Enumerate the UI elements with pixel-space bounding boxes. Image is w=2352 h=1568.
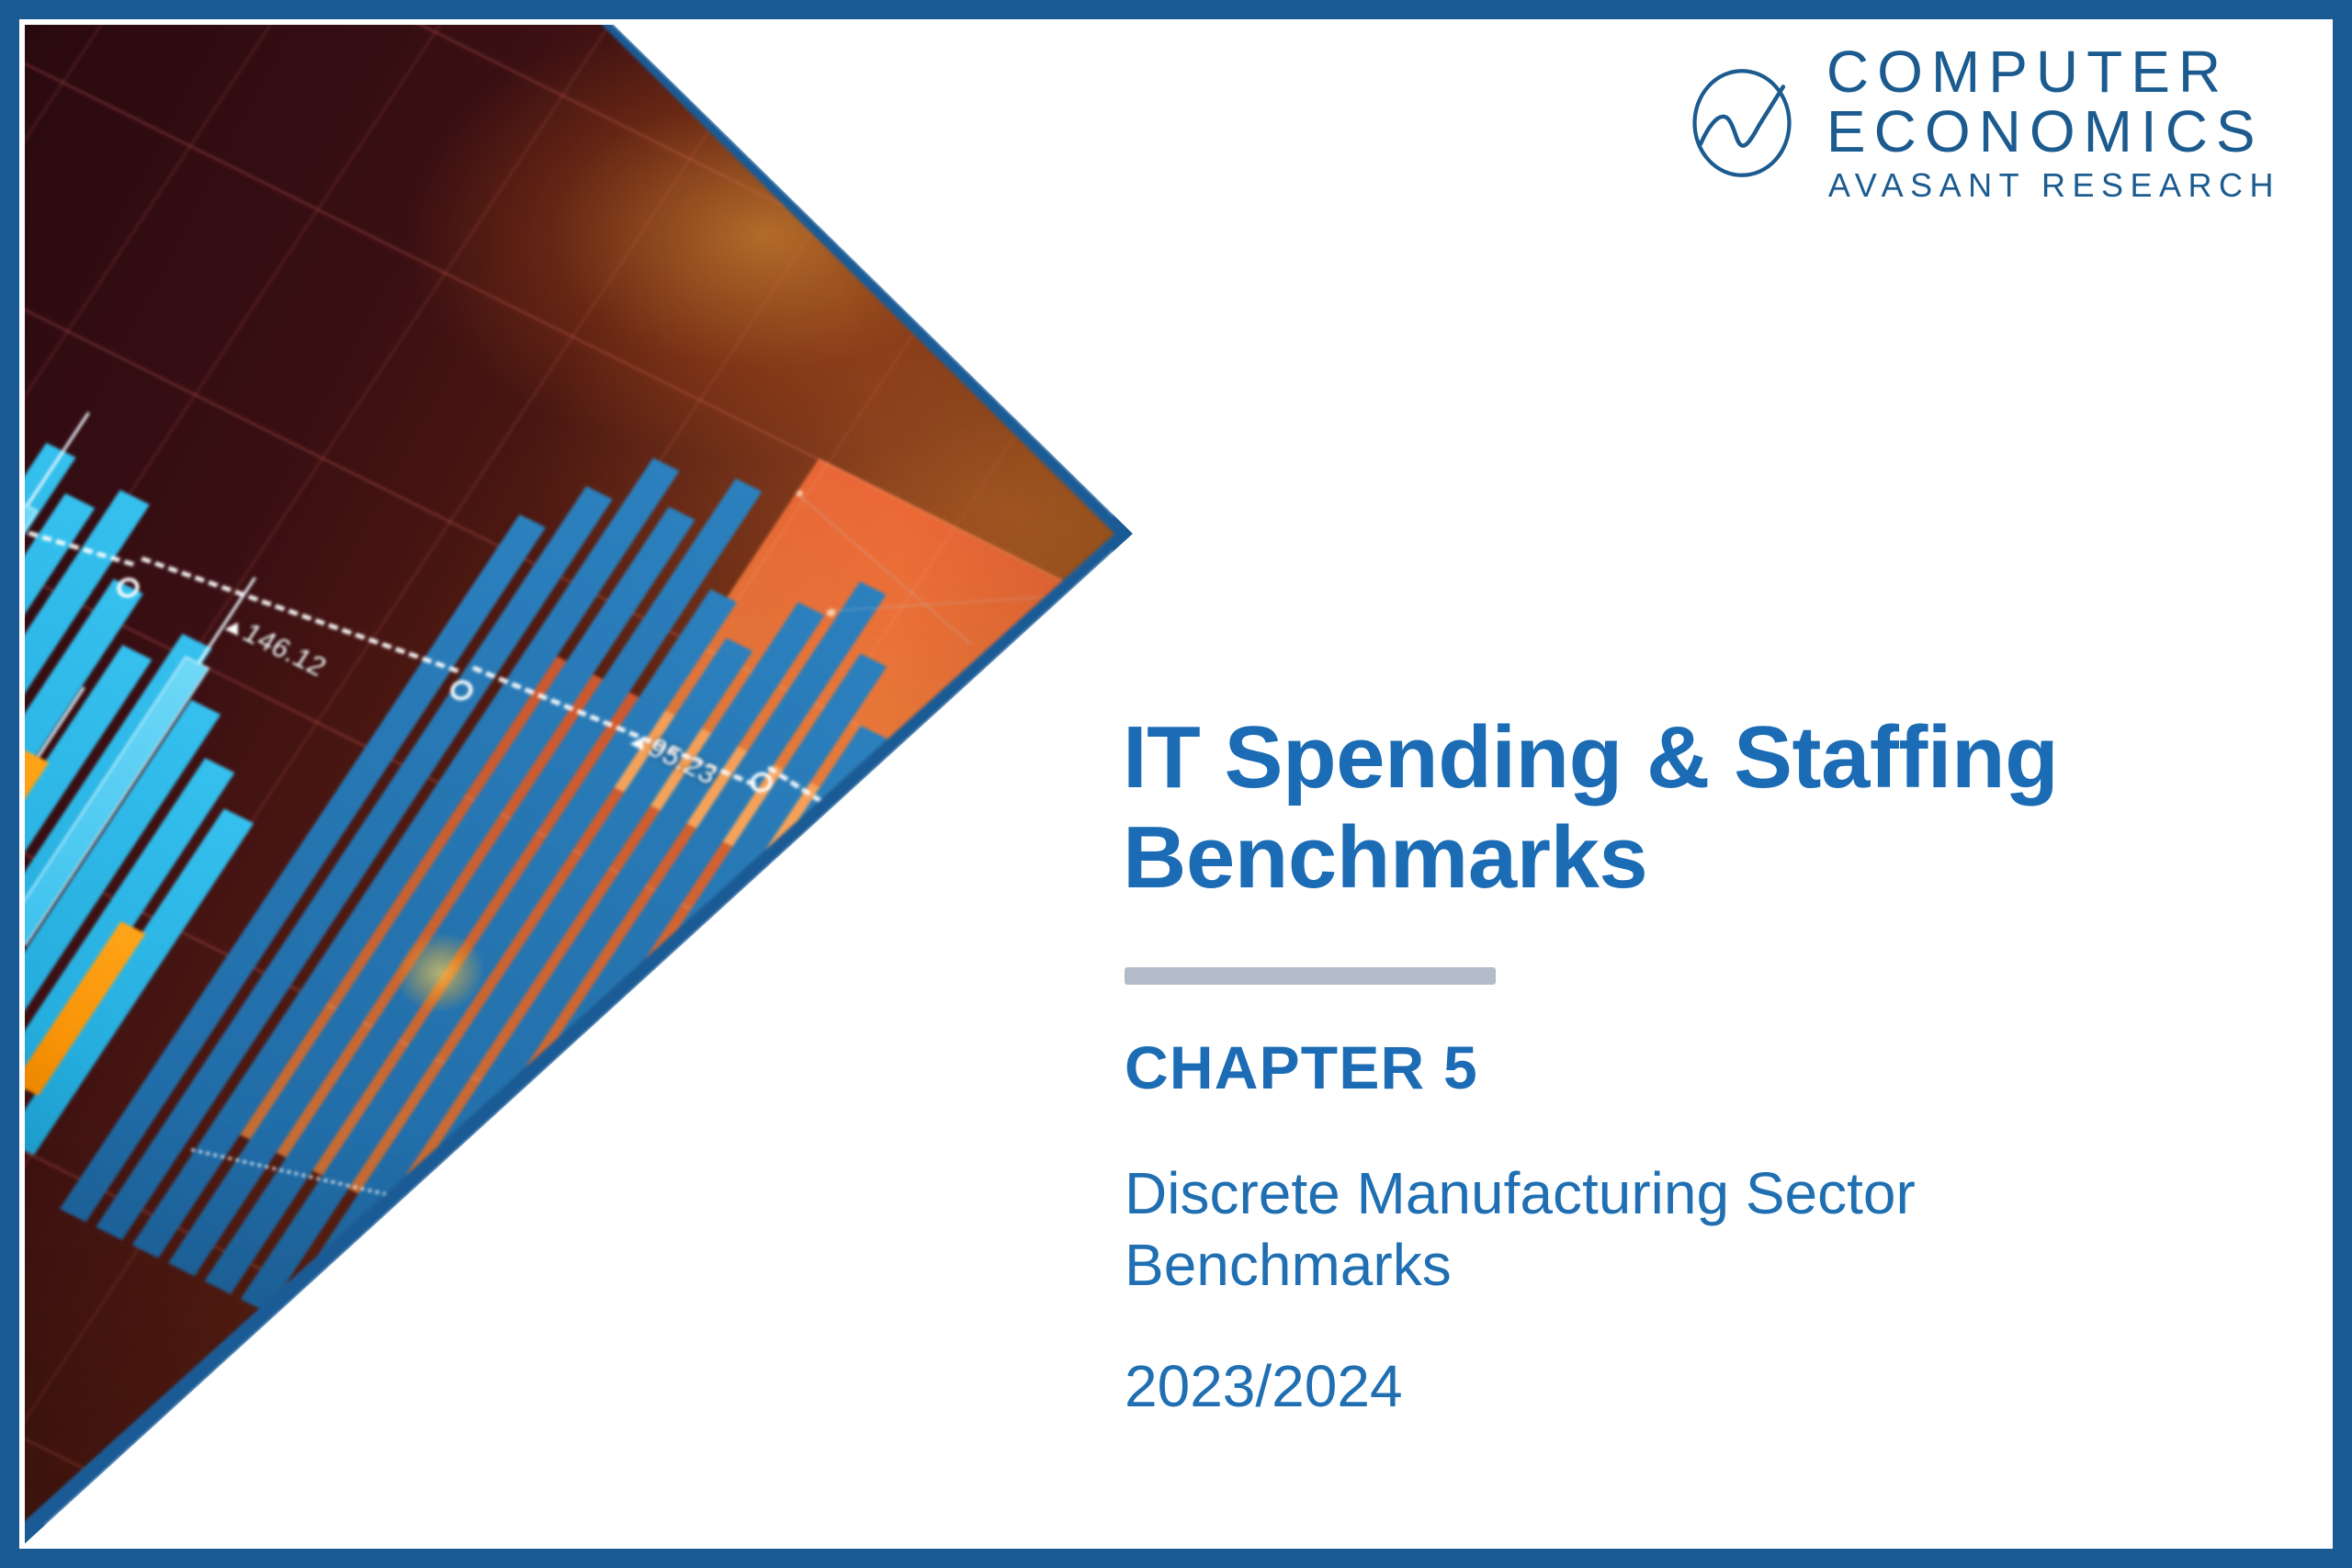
computer-economics-circle-swoosh-logo-icon	[1681, 62, 1803, 184]
chapter-label: CHAPTER 5	[1125, 1032, 2225, 1102]
logo-line-avasant-research: AVASANT RESEARCH	[1826, 166, 2280, 205]
financial-chart-triangle-image: 146.12 95.23 215.25 15.94	[19, 19, 1149, 1549]
up-triangle-icon	[225, 619, 245, 636]
up-triangle-icon	[1077, 767, 1097, 784]
page-title: IT Spending & Staffing Benchmarks	[1123, 707, 2198, 908]
title-slide: 146.12 95.23 215.25 15.94 COMPUTER	[0, 0, 2352, 1568]
chart-photo: 146.12 95.23 215.25 15.94	[19, 19, 1149, 1549]
title-divider	[1125, 967, 1496, 985]
brand-logo: COMPUTER ECONOMICS AVASANT RESEARCH	[1681, 42, 2280, 205]
logo-line-economics: ECONOMICS	[1826, 102, 2280, 162]
logo-line-computer: COMPUTER	[1826, 42, 2280, 102]
logo-wordmark: COMPUTER ECONOMICS AVASANT RESEARCH	[1826, 42, 2280, 205]
title-block: IT Spending & Staffing Benchmarks CHAPTE…	[1123, 707, 2225, 1420]
chart-data-label-3: 215.25	[750, 884, 862, 957]
chart-perspective-plane: 146.12 95.23 215.25 15.94	[19, 19, 1149, 1549]
edition-years: 2023/2024	[1125, 1352, 2225, 1420]
chapter-subtitle: Discrete Manufacturing Sector Benchmarks	[1125, 1157, 2043, 1301]
up-triangle-icon	[754, 893, 775, 909]
